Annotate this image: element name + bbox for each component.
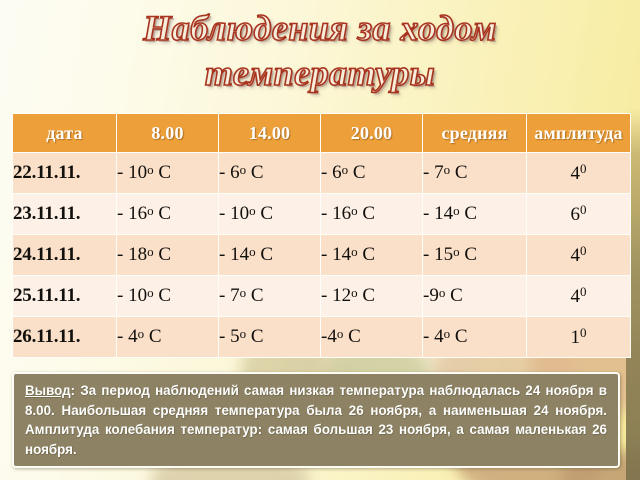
table-row: 26.11.11. - 4о C - 5о C -4о C - 4о C 10	[13, 317, 631, 358]
cell-t0800: - 18о C	[117, 235, 219, 276]
column-header-0800: 8.00	[117, 114, 219, 153]
observations-table: дата 8.00 14.00 20.00 средняя амплитуда …	[12, 113, 631, 358]
column-header-amplitude: амплитуда	[527, 114, 631, 153]
cell-amplitude: 10	[527, 317, 631, 358]
column-header-date: дата	[13, 114, 117, 153]
cell-t2000: -4о C	[321, 317, 423, 358]
column-header-1400: 14.00	[219, 114, 321, 153]
cell-t0800: - 4о C	[117, 317, 219, 358]
cell-amplitude: 60	[527, 194, 631, 235]
cell-amplitude: 40	[527, 276, 631, 317]
cell-t2000: - 14о C	[321, 235, 423, 276]
cell-date: 22.11.11.	[13, 153, 117, 194]
cell-t2000: - 6о C	[321, 153, 423, 194]
cell-t0800: - 10о C	[117, 276, 219, 317]
column-header-2000: 20.00	[321, 114, 423, 153]
cell-average: - 14о C	[423, 194, 527, 235]
cell-average: -9о C	[423, 276, 527, 317]
conclusion-text: : За период наблюдений самая низкая темп…	[25, 383, 607, 457]
cell-amplitude: 40	[527, 153, 631, 194]
table-row: 23.11.11. - 16о C - 10о C - 16о C - 14о …	[13, 194, 631, 235]
cell-t2000: - 12о C	[321, 276, 423, 317]
table-row: 22.11.11. - 10о C - 6о C - 6о C - 7о C 4…	[13, 153, 631, 194]
cell-date: 24.11.11.	[13, 235, 117, 276]
table-header-row: дата 8.00 14.00 20.00 средняя амплитуда	[13, 114, 631, 153]
conclusion-box: Вывод: За период наблюдений самая низкая…	[12, 372, 620, 468]
cell-average: - 7о C	[423, 153, 527, 194]
cell-date: 26.11.11.	[13, 317, 117, 358]
table-body: 22.11.11. - 10о C - 6о C - 6о C - 7о C 4…	[13, 153, 631, 358]
column-header-average: средняя	[423, 114, 527, 153]
cell-date: 23.11.11.	[13, 194, 117, 235]
cell-t1400: - 5о C	[219, 317, 321, 358]
cell-t0800: - 16о C	[117, 194, 219, 235]
cell-t1400: - 6о C	[219, 153, 321, 194]
table-row: 25.11.11. - 10о C - 7о C - 12о C -9о C 4…	[13, 276, 631, 317]
cell-average: - 15о C	[423, 235, 527, 276]
cell-t1400: - 14о C	[219, 235, 321, 276]
cell-date: 25.11.11.	[13, 276, 117, 317]
cell-t0800: - 10о C	[117, 153, 219, 194]
cell-t1400: - 7о C	[219, 276, 321, 317]
table-row: 24.11.11. - 18о C - 14о C - 14о C - 15о …	[13, 235, 631, 276]
cell-average: - 4о C	[423, 317, 527, 358]
slide-title: Наблюдения за ходом температуры	[0, 6, 640, 96]
observations-table-wrapper: дата 8.00 14.00 20.00 средняя амплитуда …	[12, 113, 630, 358]
conclusion-label: Вывод	[25, 383, 71, 398]
cell-t2000: - 16о C	[321, 194, 423, 235]
cell-t1400: - 10о C	[219, 194, 321, 235]
cell-amplitude: 40	[527, 235, 631, 276]
